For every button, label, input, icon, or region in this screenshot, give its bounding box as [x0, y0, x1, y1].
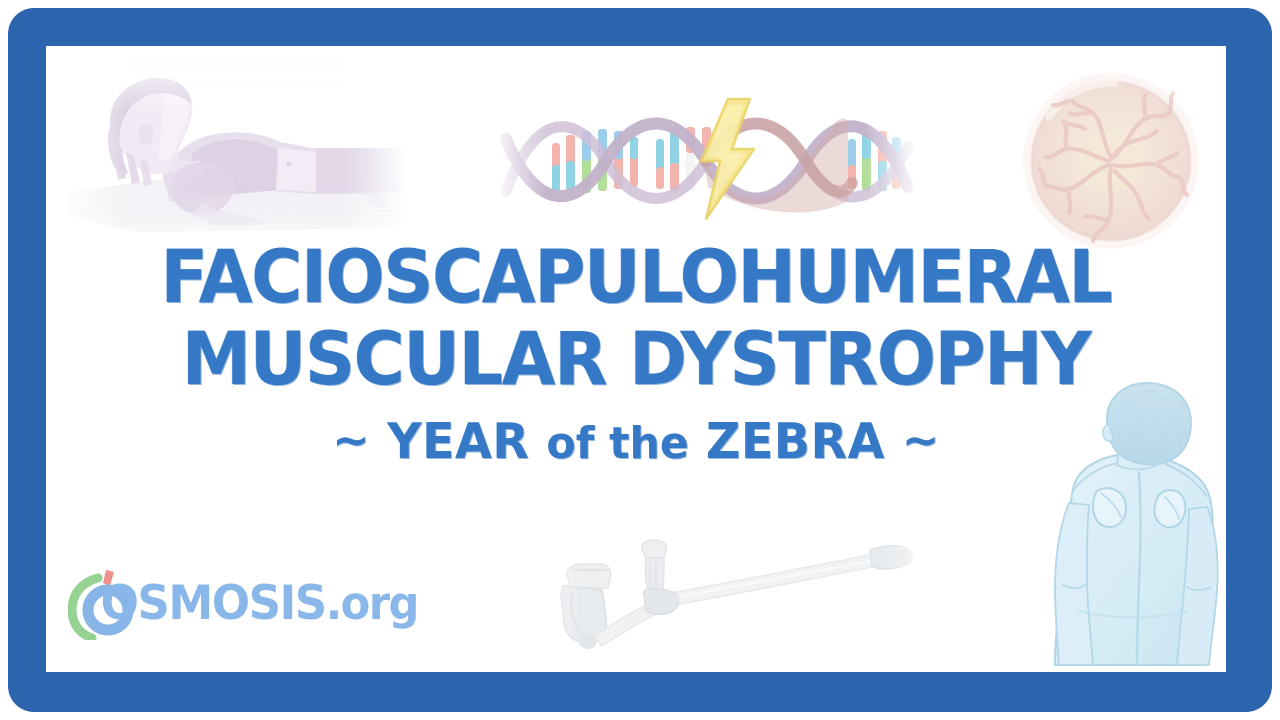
osmosis-logo-text: OSMOSIS.org [101, 580, 418, 628]
page-title-line-1: FACIOSCAPULOHUMERAL [73, 241, 1200, 314]
subtitle-tilde-right: ~ [902, 413, 940, 467]
subtitle-connector: of the [546, 418, 688, 469]
slide-canvas: FACIOSCAPULOHUMERAL MUSCULAR DYSTROPHY ~… [0, 0, 1280, 720]
subtitle-tilde-left: ~ [332, 413, 370, 467]
osmosis-suffix: .org [326, 577, 418, 630]
subtitle-word-zebra: ZEBRA [706, 413, 885, 470]
osmosis-brand: OSMOSIS [101, 576, 326, 631]
subtitle: ~ YEAR of the ZEBRA ~ [64, 414, 1209, 470]
person-lying-supine-icon [66, 56, 406, 261]
title-block: FACIOSCAPULOHUMERAL MUSCULAR DYSTROPHY ~… [46, 241, 1226, 470]
slide-content-area: FACIOSCAPULOHUMERAL MUSCULAR DYSTROPHY ~… [46, 46, 1226, 672]
dna-double-helix-icon [496, 91, 916, 231]
subtitle-word-year: YEAR [387, 413, 529, 470]
osmosis-logo[interactable]: OSMOSIS.org [68, 564, 408, 644]
forearm-crutch-icon [526, 526, 926, 666]
page-title-line-2: MUSCULAR DYSTROPHY [73, 323, 1200, 396]
